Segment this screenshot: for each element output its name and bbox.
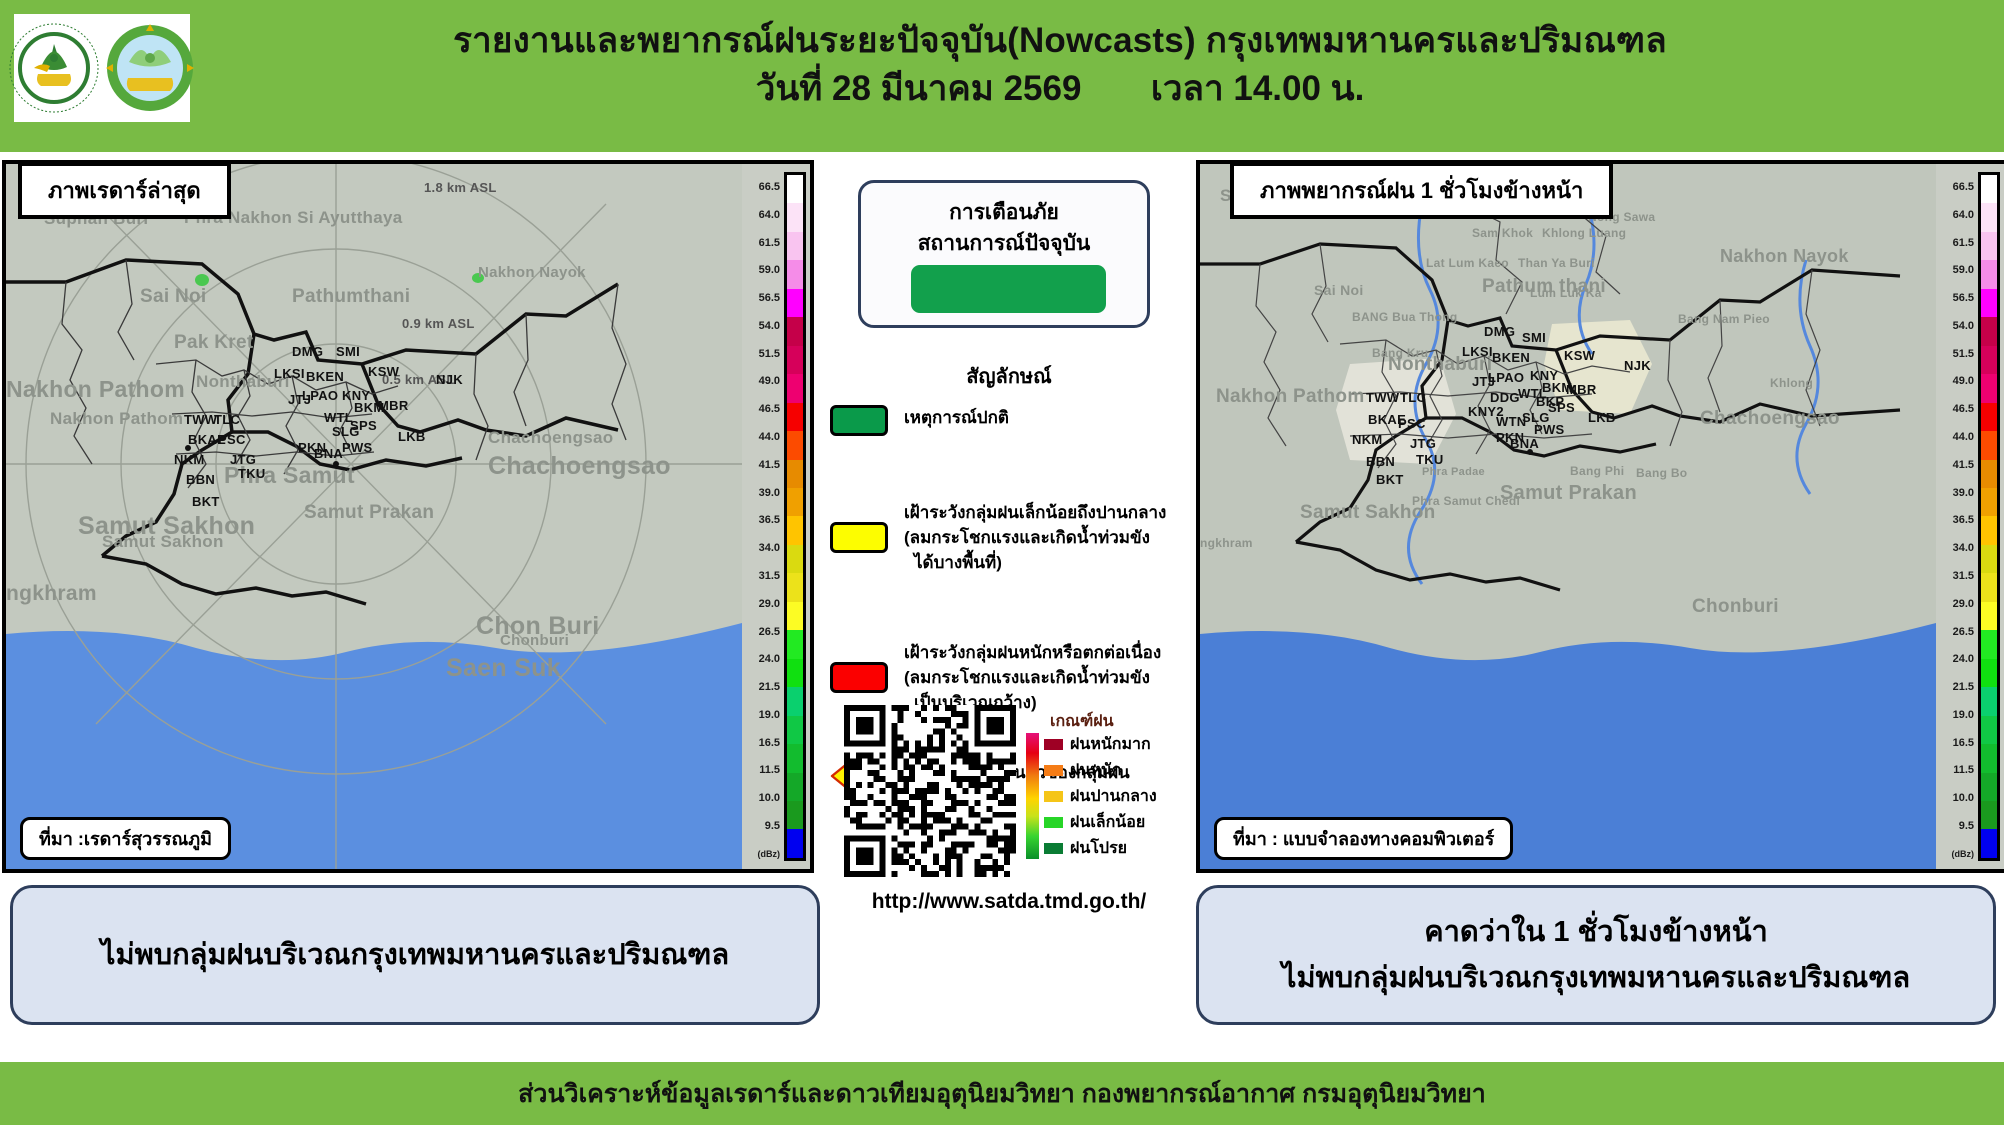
radar-source-tag: ที่มา :เรดาร์สุวรรณภูมิ — [20, 817, 231, 860]
scale-segment-23 — [1981, 829, 1997, 857]
radar-place-label-13: Samut Sakhon — [102, 532, 224, 552]
radar-district-code-13: WTL — [324, 410, 353, 425]
radar-color-bar — [784, 172, 806, 861]
scale-tick-9: 44.0 — [744, 432, 780, 442]
radar-district-code-4: LKSI — [274, 366, 305, 381]
radar-district-code-26: BKT — [192, 494, 220, 509]
rain-criteria-item-4: ฝนโปรย — [1044, 835, 1157, 861]
forecast-place-label-12: Bang Nam Pieo — [1678, 312, 1770, 326]
radar-district-code-17: PSC — [218, 432, 246, 447]
radar-district-code-20: NKM — [174, 452, 205, 467]
rain-criteria-item-0: ฝนหนักมาก — [1044, 731, 1157, 757]
scale-segment-3 — [787, 260, 803, 288]
rain-criteria-item-2: ฝนปานกลาง — [1044, 783, 1157, 809]
scale-tick-13: 34.0 — [744, 543, 780, 553]
radar-caption-line: ไม่พบกลุ่มฝนบริเวณกรุงเทพมหานครและปริมณฑ… — [101, 932, 729, 978]
forecast-district-code-10: MBR — [1566, 382, 1597, 397]
forecast-district-code-28: BBN — [1366, 454, 1395, 469]
scale-tick-8: 46.5 — [1938, 404, 1974, 414]
forecast-color-scale: 66.564.061.559.056.554.051.549.046.544.0… — [1936, 164, 2004, 869]
scale-tick-14: 31.5 — [1938, 571, 1974, 581]
forecast-district-code-29: TKU — [1416, 452, 1444, 467]
scale-tick-23: 9.5 — [744, 821, 780, 831]
scale-tick-1: 64.0 — [744, 210, 780, 220]
scale-segment-22 — [787, 801, 803, 829]
scale-segment-10 — [787, 460, 803, 488]
forecast-district-code-22: WTN — [1496, 414, 1527, 429]
scale-segment-5 — [1981, 317, 1997, 345]
scale-tick-12: 36.5 — [1938, 515, 1974, 525]
radar-place-label-8: Nakhon Pathom — [50, 409, 183, 429]
forecast-district-code-2: KSW — [1564, 348, 1595, 363]
scale-segment-20 — [787, 744, 803, 772]
warning-status-indicator — [911, 265, 1106, 313]
radar-place-label-16: Chonburi — [500, 632, 569, 649]
scale-tick-6: 51.5 — [1938, 349, 1974, 359]
scale-tick-10: 41.5 — [744, 460, 780, 470]
scale-segment-23 — [787, 829, 803, 857]
scale-tick-8: 46.5 — [744, 404, 780, 414]
scale-segment-0 — [787, 175, 803, 203]
forecast-source-tag: ที่มา : แบบจำลองทางคอมพิวเตอร์ — [1214, 817, 1513, 860]
legend-red-warning-line-0: เฝ้าระวังกลุ่มฝนหนักหรือตกต่อเนื่อง — [904, 640, 1161, 665]
forecast-place-label-15: Nakhon Pathom — [1216, 386, 1365, 408]
legend-yellow-watch-line-1: (ลมกระโชกแรงและเกิดน้ำท่วมขัง — [904, 525, 1166, 550]
scale-tick-23: 9.5 — [1938, 821, 1974, 831]
radar-place-label-4: Pathumthani — [292, 286, 410, 308]
report-time: เวลา 14.00 น. — [1151, 69, 1364, 108]
forecast-caption-box: คาดว่าใน 1 ชั่วโมงข้างหน้า ไม่พบกลุ่มฝนบ… — [1196, 885, 1996, 1025]
rain-criteria-label-4: ฝนโปรย — [1070, 836, 1127, 861]
scale-segment-13 — [787, 545, 803, 573]
radar-place-label-18: ngkhram — [6, 582, 97, 606]
radar-echo — [195, 274, 209, 286]
forecast-place-label-7: Than Ya Buri — [1518, 256, 1595, 270]
warning-title-line2: สถานการณ์ปัจจุบัน — [861, 227, 1147, 260]
page-header: รายงานและพยากรณ์ฝนระยะปัจจุบัน(Nowcasts)… — [0, 0, 2004, 152]
forecast-district-code-5: NJK — [1624, 358, 1651, 373]
thai-meteorological-department-seal — [104, 22, 196, 114]
scale-tick-22: 10.0 — [1938, 793, 1974, 803]
forecast-place-label-25: Chonburi — [1692, 596, 1779, 618]
scale-tick-10: 41.5 — [1938, 460, 1974, 470]
radar-panel-title: ภาพเรดาร์ล่าสุด — [18, 162, 231, 219]
legend-yellow-watch-line-0: เฝ้าระวังกลุ่มฝนเล็กน้อยถึงปานกลาง — [904, 500, 1166, 525]
scale-segment-9 — [1981, 431, 1997, 459]
forecast-place-label-16: Chachoengsao — [1700, 408, 1840, 430]
forecast-place-label-10: Lum Luk Ka — [1530, 286, 1602, 300]
scale-tick-17: 24.0 — [1938, 654, 1974, 664]
forecast-district-code-3: LKSI — [1462, 344, 1493, 359]
forecast-district-code-0: DMG — [1484, 324, 1515, 339]
report-date: วันที่ 28 มีนาคม 2569 — [756, 69, 1082, 108]
scale-tick-2: 61.5 — [744, 238, 780, 248]
radar-place-label-2: Nakhon Nayok — [478, 264, 586, 281]
scale-tick-16: 26.5 — [1938, 627, 1974, 637]
radar-district-code-7: JTJ — [288, 392, 311, 407]
scale-tick-7: 49.0 — [1938, 376, 1974, 386]
radar-district-code-5: NJK — [436, 372, 463, 387]
scale-tick-0: 66.5 — [744, 182, 780, 192]
forecast-place-label-6: Lat Lum Kaeo — [1426, 256, 1509, 270]
rain-criteria-chip-0 — [1044, 739, 1063, 750]
forecast-district-code-24: NKM — [1352, 432, 1383, 447]
scale-tick-0: 66.5 — [1938, 182, 1974, 192]
forecast-district-code-27: BNA — [1510, 436, 1539, 451]
center-legend-column: การเตือนภัย สถานการณ์ปัจจุบัน สัญลักษณ์ … — [824, 160, 1194, 1060]
header-title-block: รายงานและพยากรณ์ฝนระยะปัจจุบัน(Nowcasts)… — [260, 18, 1860, 114]
rain-criteria-label-1: ฝนหนัก — [1070, 758, 1121, 783]
forecast-district-code-14: DDG — [1490, 390, 1520, 405]
radar-place-label-7: Nakhon Pathom — [6, 376, 185, 403]
rain-criteria-item-1: ฝนหนัก — [1044, 757, 1157, 783]
rain-criteria-gradient-bar — [1026, 733, 1039, 859]
scale-segment-5 — [787, 317, 803, 345]
range-ring-label-1: 1.8 km ASL — [424, 180, 497, 195]
scale-tick-17: 24.0 — [744, 654, 780, 664]
range-ring-label-2: 0.9 km ASL — [402, 316, 475, 331]
scale-tick-20: 16.5 — [1938, 738, 1974, 748]
forecast-scale-labels: 66.564.061.559.056.554.051.549.046.544.0… — [1938, 172, 1974, 861]
forecast-caption-line1: คาดว่าใน 1 ชั่วโมงข้างหน้า — [1424, 909, 1768, 955]
scale-segment-8 — [1981, 403, 1997, 431]
scale-segment-16 — [1981, 630, 1997, 658]
legend-row-1: เฝ้าระวังกลุ่มฝนเล็กน้อยถึงปานกลาง(ลมกระ… — [830, 500, 1194, 575]
forecast-district-code-4: BKEN — [1492, 350, 1530, 365]
rain-criteria-chip-1 — [1044, 765, 1063, 776]
legend-yellow-watch-swatch — [830, 522, 888, 553]
legend-row-0: เหตุการณ์ปกติ — [830, 405, 1194, 436]
scale-tick-3: 59.0 — [744, 265, 780, 275]
scale-tick-15: 29.0 — [1938, 599, 1974, 609]
scale-segment-11 — [1981, 488, 1997, 516]
radar-district-code-10: BKM — [354, 400, 385, 415]
forecast-place-label-18: Samut Prakan — [1500, 482, 1637, 505]
forecast-place-label-20: Bang Bo — [1636, 466, 1687, 480]
radar-district-code-21: JTG — [230, 452, 256, 467]
scale-segment-18 — [1981, 687, 1997, 715]
scale-segment-14 — [787, 573, 803, 601]
radar-district-code-18: SLG — [332, 424, 360, 439]
scale-segment-20 — [1981, 744, 1997, 772]
forecast-district-code-30: BKT — [1376, 472, 1404, 487]
page-footer: ส่วนวิเคราะห์ข้อมูลเรดาร์และดาวเทียมอุตุ… — [0, 1062, 2004, 1125]
warning-status-box: การเตือนภัย สถานการณ์ปัจจุบัน — [858, 180, 1150, 328]
forecast-district-code-11: TWW — [1366, 390, 1399, 405]
scale-tick-7: 49.0 — [744, 376, 780, 386]
scale-segment-1 — [1981, 203, 1997, 231]
rain-criteria-label-0: ฝนหนักมาก — [1070, 732, 1151, 757]
legend-red-warning-line-1: (ลมกระโชกแรงและเกิดน้ำท่วมขัง — [904, 665, 1161, 690]
forecast-district-code-19: PSC — [1398, 416, 1426, 431]
legend-red-warning-label: เฝ้าระวังกลุ่มฝนหนักหรือตกต่อเนื่อง(ลมกร… — [904, 640, 1161, 715]
rain-criteria-items: ฝนหนักมากฝนหนักฝนปานกลางฝนเล็กน้อยฝนโปรย — [1044, 731, 1157, 861]
rain-criteria-chip-4 — [1044, 843, 1063, 854]
scale-tick-6: 51.5 — [744, 349, 780, 359]
scale-tick-11: 39.0 — [1938, 488, 1974, 498]
legend-green-normal-label: เหตุการณ์ปกติ — [904, 405, 1009, 430]
rain-criteria-label-3: ฝนเล็กน้อย — [1070, 810, 1145, 835]
scale-tick-14: 31.5 — [744, 571, 780, 581]
legend-yellow-watch-label: เฝ้าระวังกลุ่มฝนเล็กน้อยถึงปานกลาง(ลมกระ… — [904, 500, 1166, 575]
forecast-panel-title: ภาพพยากรณ์ฝน 1 ชั่วโมงข้างหน้า — [1230, 162, 1613, 219]
scale-tick-5: 54.0 — [744, 321, 780, 331]
forecast-place-label-11: BANG Bua Thong — [1352, 310, 1458, 324]
scale-segment-13 — [1981, 545, 1997, 573]
scale-segment-17 — [1981, 659, 1997, 687]
scale-tick-4: 56.5 — [744, 293, 780, 303]
warning-title-line1: การเตือนภัย — [861, 196, 1147, 229]
radar-district-code-12: TLC — [214, 412, 240, 427]
radar-place-label-17: Saen Suk — [446, 654, 561, 683]
website-url[interactable]: http://www.satda.tmd.go.th/ — [824, 890, 1194, 914]
scale-segment-17 — [787, 659, 803, 687]
scale-tick-18: 21.5 — [744, 682, 780, 692]
forecast-color-bar — [1978, 172, 2000, 861]
scale-tick-13: 34.0 — [1938, 543, 1974, 553]
radar-district-code-3: BKEN — [306, 369, 344, 384]
scale-segment-4 — [1981, 289, 1997, 317]
scale-segment-11 — [787, 488, 803, 516]
scale-segment-15 — [1981, 602, 1997, 630]
forecast-district-code-8: JTJ — [1472, 374, 1495, 389]
forecast-place-label-3: Sam Khok — [1472, 226, 1533, 240]
scale-segment-0 — [1981, 175, 1997, 203]
scale-segment-7 — [787, 374, 803, 402]
scale-segment-6 — [787, 346, 803, 374]
scale-tick-21: 11.5 — [744, 765, 780, 775]
forecast-place-label-8: Sai Noi — [1314, 282, 1364, 298]
radar-place-label-5: Pak Kret — [174, 332, 254, 354]
page-title: รายงานและพยากรณ์ฝนระยะปัจจุบัน(Nowcasts)… — [260, 18, 1860, 64]
forecast-district-code-16: SPS — [1548, 400, 1575, 415]
forecast-panel[interactable]: Suphan BuriPhra Nakhon Si AyutthayaNong … — [1196, 160, 2004, 873]
scale-segment-9 — [787, 431, 803, 459]
scale-segment-12 — [1981, 516, 1997, 544]
legend-red-warning-swatch — [830, 662, 888, 693]
radar-district-code-25: TKU — [238, 466, 266, 481]
scale-segment-2 — [1981, 232, 1997, 260]
date-time-line: วันที่ 28 มีนาคม 2569 เวลา 14.00 น. — [260, 64, 1860, 114]
scale-tick-19: 19.0 — [744, 710, 780, 720]
forecast-place-label-4: Khlong Luang — [1542, 226, 1626, 240]
radar-district-code-0: DMG — [292, 344, 323, 359]
forecast-caption-line2: ไม่พบกลุ่มฝนบริเวณกรุงเทพมหานครและปริมณฑ… — [1282, 955, 1910, 1001]
radar-district-code-2: KSW — [368, 364, 399, 379]
scale-segment-21 — [1981, 773, 1997, 801]
scale-tick-19: 19.0 — [1938, 710, 1974, 720]
scale-segment-2 — [787, 232, 803, 260]
forecast-place-label-5: Nakhon Nayok — [1720, 246, 1849, 267]
forecast-map[interactable]: Suphan BuriPhra Nakhon Si AyutthayaNong … — [1200, 164, 1936, 869]
forecast-district-code-23: PWS — [1534, 422, 1565, 437]
legend-yellow-watch-line-2: ได้บางพื้นที่) — [914, 550, 1166, 575]
radar-map[interactable]: 1.8 km ASL 0.9 km ASL 0.5 km ASL Suphan … — [6, 164, 742, 869]
scale-tick-15: 29.0 — [744, 599, 780, 609]
radar-district-code-15: LKB — [398, 429, 426, 444]
scale-tick-1: 64.0 — [1938, 210, 1974, 220]
scale-tick-2: 61.5 — [1938, 238, 1974, 248]
radar-place-label-3: Sai Noi — [140, 286, 207, 308]
legend-green-normal-swatch — [830, 405, 888, 436]
scale-segment-4 — [787, 289, 803, 317]
scale-segment-19 — [1981, 716, 1997, 744]
radar-district-code-23: PKN — [298, 440, 326, 455]
bangkok-metropolitan-seal — [8, 22, 100, 114]
scale-segment-7 — [1981, 374, 1997, 402]
legend-green-normal-line-0: เหตุการณ์ปกติ — [904, 405, 1009, 430]
logo-container — [14, 14, 190, 122]
rain-criteria-chip-3 — [1044, 817, 1063, 828]
scale-segment-12 — [787, 516, 803, 544]
forecast-place-label-17: Khlong — [1770, 376, 1813, 390]
scale-tick-4: 56.5 — [1938, 293, 1974, 303]
scale-segment-22 — [1981, 801, 1997, 829]
scale-tick-20: 16.5 — [744, 738, 780, 748]
scale-segment-19 — [787, 716, 803, 744]
qr-code[interactable] — [844, 705, 1016, 877]
scale-segment-18 — [787, 687, 803, 715]
scale-unit-label: (dBz) — [744, 849, 780, 859]
radar-district-code-19: PWS — [342, 440, 373, 455]
forecast-place-label-24: ngkhram — [1200, 536, 1253, 550]
forecast-place-label-22: Phra Samut Chedi — [1412, 494, 1520, 508]
scale-segment-6 — [1981, 346, 1997, 374]
scale-segment-21 — [787, 773, 803, 801]
scale-tick-18: 21.5 — [1938, 682, 1974, 692]
scale-segment-15 — [787, 602, 803, 630]
forecast-place-label-23: Phra Padae — [1422, 466, 1485, 478]
scale-tick-22: 10.0 — [744, 793, 780, 803]
scale-tick-11: 39.0 — [744, 488, 780, 498]
scale-segment-14 — [1981, 573, 1997, 601]
radar-panel[interactable]: 1.8 km ASL 0.9 km ASL 0.5 km ASL Suphan … — [2, 160, 814, 873]
scale-tick-5: 54.0 — [1938, 321, 1974, 331]
radar-district-code-1: SMI — [336, 344, 360, 359]
scale-tick-3: 59.0 — [1938, 265, 1974, 275]
rain-criteria-legend: เกณฑ์ฝน ฝนหนักมากฝนหนักฝนปานกลางฝนเล็กน้… — [1026, 709, 1196, 736]
scale-unit-label: (dBz) — [1938, 849, 1974, 859]
radar-caption-box: ไม่พบกลุ่มฝนบริเวณกรุงเทพมหานครและปริมณฑ… — [10, 885, 820, 1025]
forecast-district-code-25: JTG — [1410, 436, 1436, 451]
radar-place-label-9: Chachoengsao — [488, 428, 613, 448]
scale-tick-16: 26.5 — [744, 627, 780, 637]
radar-place-label-11: Chachoengsao — [488, 452, 671, 481]
radar-scale-labels: 66.564.061.559.056.554.051.549.046.544.0… — [744, 172, 780, 861]
scale-segment-10 — [1981, 460, 1997, 488]
rain-criteria-chip-2 — [1044, 791, 1063, 802]
forecast-district-code-12: TLC — [1400, 390, 1426, 405]
scale-tick-9: 44.0 — [1938, 432, 1974, 442]
forecast-district-code-17: LKB — [1588, 410, 1616, 425]
rain-criteria-item-3: ฝนเล็กน้อย — [1044, 809, 1157, 835]
scale-segment-1 — [787, 203, 803, 231]
footer-text: ส่วนวิเคราะห์ข้อมูลเรดาร์และดาวเทียมอุตุ… — [518, 1074, 1486, 1114]
forecast-place-label-19: Bang Phi — [1570, 464, 1624, 478]
scale-segment-8 — [787, 403, 803, 431]
scale-segment-16 — [787, 630, 803, 658]
radar-district-code-24: BBN — [186, 472, 215, 487]
scale-segment-3 — [1981, 260, 1997, 288]
scale-tick-12: 36.5 — [744, 515, 780, 525]
legend-title: สัญลักษณ์ — [824, 360, 1194, 392]
forecast-district-code-1: SMI — [1522, 330, 1546, 345]
radar-place-label-14: Samut Prakan — [304, 502, 434, 524]
legend-row-2: เฝ้าระวังกลุ่มฝนหนักหรือตกต่อเนื่อง(ลมกร… — [830, 640, 1194, 715]
scale-tick-21: 11.5 — [1938, 765, 1974, 775]
radar-district-code-11: TWW — [184, 412, 217, 427]
radar-color-scale: 66.564.061.559.056.554.051.549.046.544.0… — [742, 164, 810, 869]
rain-criteria-label-2: ฝนปานกลาง — [1070, 784, 1157, 809]
